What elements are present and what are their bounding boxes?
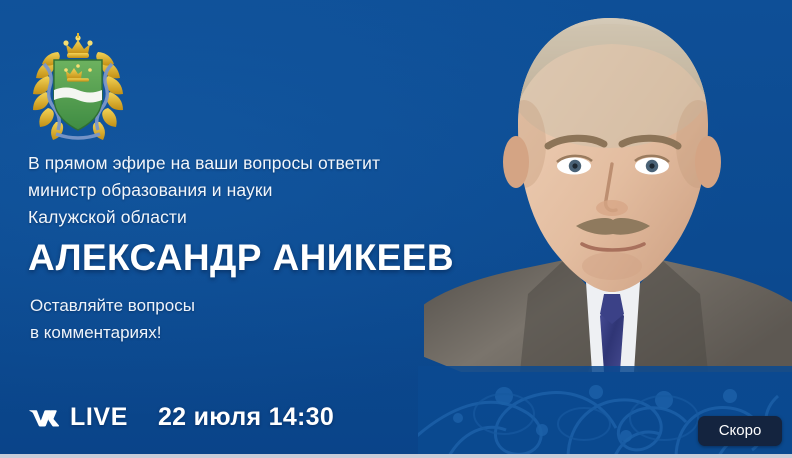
lede-line-2: министр образования и науки <box>28 177 498 204</box>
lede-text: В прямом эфире на ваши вопросы ответит м… <box>28 150 498 231</box>
footer-row: LIVE 22 июля 14:30 <box>28 405 334 430</box>
guest-name-heading: АЛЕКСАНДР АНИКЕЕВ <box>28 237 454 279</box>
vk-live-logo: LIVE <box>28 405 128 430</box>
coat-of-arms-kaluga-oblast-icon <box>22 30 134 142</box>
cta-line-2: в комментариях! <box>30 319 195 346</box>
cta-line-1: Оставляйте вопросы <box>30 292 195 319</box>
air-time-label: 22 июля 14:30 <box>158 405 334 430</box>
cta-text: Оставляйте вопросы в комментариях! <box>30 292 195 346</box>
vk-logo-icon <box>28 407 62 429</box>
live-announcement-banner: В прямом эфире на ваши вопросы ответит м… <box>0 0 792 458</box>
live-label: LIVE <box>70 405 128 430</box>
bottom-edge-strip <box>0 454 792 458</box>
status-badge-soon[interactable]: Скоро <box>698 416 782 446</box>
lede-line-3: Калужской области <box>28 204 498 231</box>
lede-line-1: В прямом эфире на ваши вопросы ответит <box>28 150 498 177</box>
